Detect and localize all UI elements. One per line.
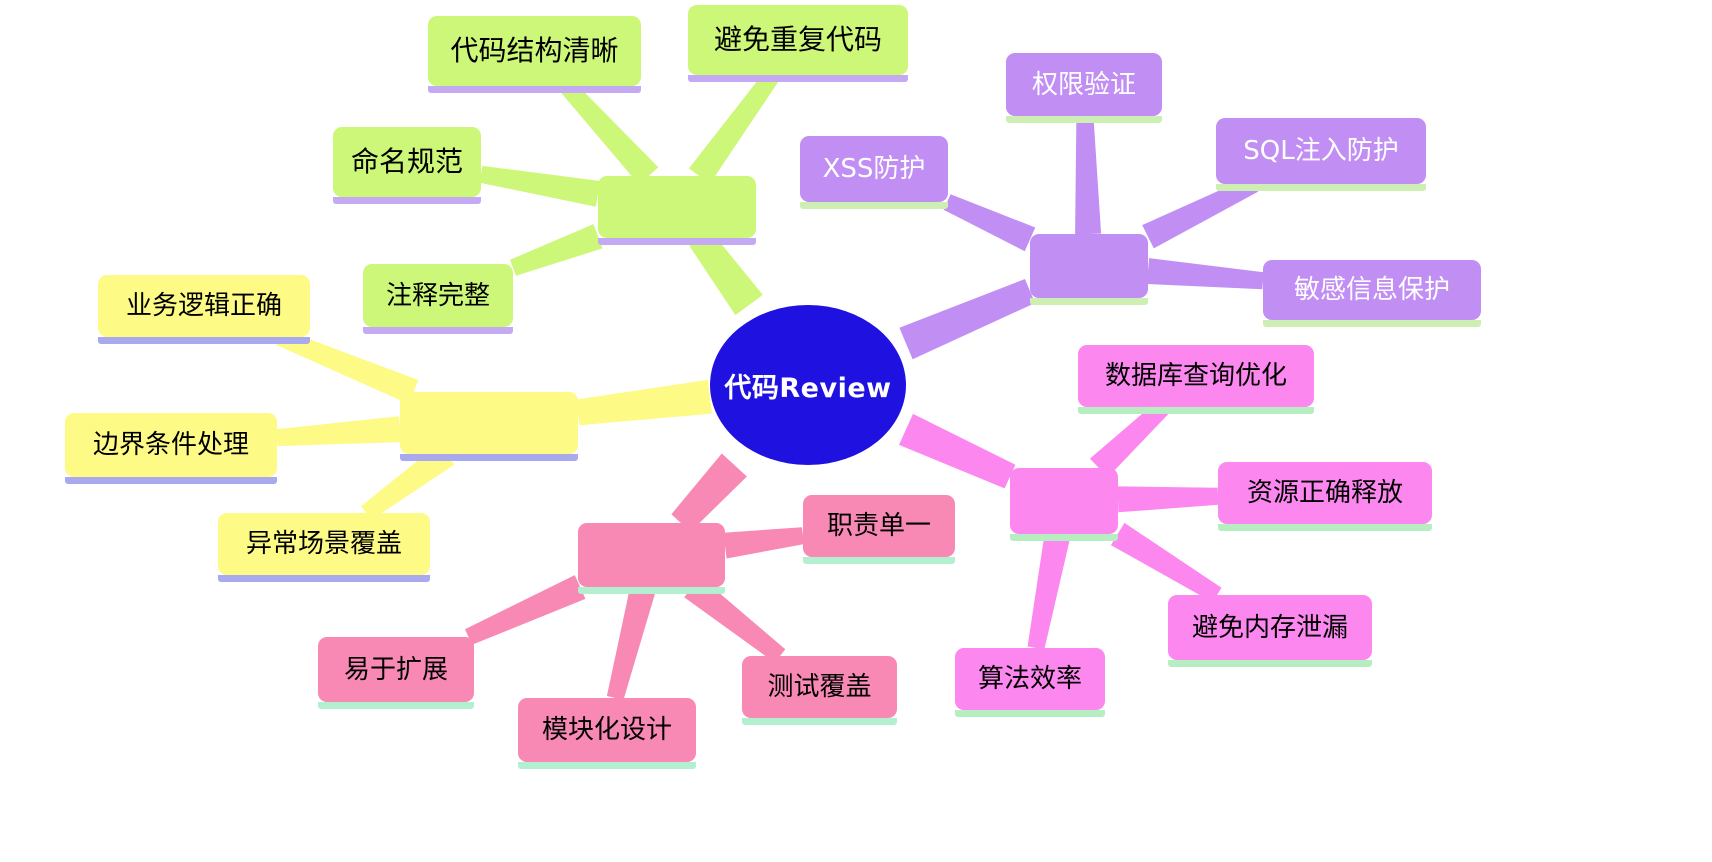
node-label: 数据库查询优化: [1103, 363, 1289, 389]
node-accent-bar: [1216, 184, 1426, 191]
leaf-node-performance-0[interactable]: 数据库查询优化: [1078, 345, 1314, 407]
node-label: 命名规范: [349, 148, 465, 176]
connector: [1028, 532, 1071, 650]
node-label: 算法效率: [976, 666, 1084, 692]
leaf-node-functional-correctness-0[interactable]: 业务逻辑正确: [98, 275, 310, 337]
node-label: 易于扩展: [342, 657, 450, 683]
node-accent-bar: [333, 197, 481, 204]
leaf-node-functional-correctness-1[interactable]: 边界条件处理: [65, 413, 277, 477]
leaf-node-functional-correctness-2[interactable]: 异常场景覆盖: [218, 513, 430, 575]
node-accent-bar: [803, 557, 955, 564]
mindmap-canvas: 代码Review 代码结构清晰避免重复代码命名规范注释完整权限验证XSS防护SQ…: [0, 0, 1712, 862]
node-accent-bar: [742, 718, 897, 725]
node-accent-bar: [318, 702, 474, 709]
branch-node-maintainability[interactable]: [578, 523, 725, 587]
node-label: SQL注入防护: [1241, 138, 1400, 164]
branch-node-functional-correctness[interactable]: [400, 392, 578, 454]
node-label: 职责单一: [825, 513, 933, 539]
branch-node-code-quality[interactable]: [598, 176, 756, 238]
leaf-node-security-1[interactable]: XSS防护: [800, 136, 948, 202]
node-accent-bar: [363, 327, 513, 334]
node-label: 避免内存泄漏: [1190, 615, 1350, 641]
node-label: 测试覆盖: [765, 674, 873, 700]
node-label: 资源正确释放: [1245, 480, 1405, 506]
leaf-node-performance-3[interactable]: 算法效率: [955, 648, 1105, 710]
node-accent-bar: [428, 86, 641, 93]
connector: [1118, 486, 1219, 512]
node-accent-bar: [1010, 534, 1118, 541]
connector: [1111, 523, 1222, 602]
node-accent-bar: [518, 762, 696, 769]
connector: [723, 527, 804, 558]
leaf-node-code-quality-3[interactable]: 注释完整: [363, 264, 513, 327]
node-label: XSS防护: [821, 156, 928, 182]
branch-node-performance[interactable]: [1010, 468, 1118, 534]
node-label: 敏感信息保护: [1292, 277, 1452, 303]
node-accent-bar: [400, 454, 578, 461]
node-label: 权限验证: [1030, 72, 1138, 98]
node-accent-bar: [598, 238, 756, 245]
node-accent-bar: [1263, 320, 1481, 327]
leaf-node-code-quality-0[interactable]: 代码结构清晰: [428, 16, 641, 86]
leaf-node-maintainability-2[interactable]: 模块化设计: [518, 698, 696, 762]
connector: [944, 194, 1036, 251]
leaf-node-code-quality-1[interactable]: 避免重复代码: [688, 5, 908, 75]
connector: [1147, 258, 1264, 289]
center-node[interactable]: 代码Review: [710, 305, 906, 465]
node-label: 注释完整: [384, 283, 492, 309]
node-accent-bar: [1078, 407, 1314, 414]
node-label: 模块化设计: [540, 717, 674, 743]
connector: [1075, 116, 1101, 235]
node-accent-bar: [98, 337, 310, 344]
node-accent-bar: [800, 202, 948, 209]
node-accent-bar: [218, 575, 430, 582]
node-label: 边界条件处理: [91, 432, 251, 458]
leaf-node-maintainability-0[interactable]: 职责单一: [803, 495, 955, 557]
node-accent-bar: [578, 587, 725, 594]
node-label: 业务逻辑正确: [124, 293, 284, 319]
node-accent-bar: [1030, 298, 1148, 305]
connector: [899, 414, 1015, 489]
connector: [276, 416, 401, 446]
leaf-node-performance-2[interactable]: 避免内存泄漏: [1168, 595, 1372, 660]
center-node-label: 代码Review: [724, 366, 891, 405]
connector: [465, 575, 585, 645]
connector: [607, 584, 656, 700]
connector: [899, 279, 1035, 359]
node-label: 异常场景覆盖: [244, 531, 404, 557]
node-accent-bar: [1218, 524, 1432, 531]
connector: [560, 80, 658, 185]
connector: [577, 380, 713, 426]
leaf-node-code-quality-2[interactable]: 命名规范: [333, 127, 481, 197]
connector: [480, 166, 600, 207]
node-label: 避免重复代码: [712, 26, 884, 54]
connector: [671, 454, 747, 532]
leaf-node-security-3[interactable]: 敏感信息保护: [1263, 260, 1481, 320]
node-accent-bar: [1168, 660, 1372, 667]
node-accent-bar: [1006, 116, 1162, 123]
leaf-node-maintainability-3[interactable]: 测试覆盖: [742, 656, 897, 718]
leaf-node-security-2[interactable]: SQL注入防护: [1216, 118, 1426, 184]
leaf-node-maintainability-1[interactable]: 易于扩展: [318, 637, 474, 702]
leaf-node-performance-1[interactable]: 资源正确释放: [1218, 462, 1432, 524]
connector: [510, 224, 603, 276]
node-accent-bar: [688, 75, 908, 82]
node-label: 代码结构清晰: [448, 37, 620, 65]
branch-node-security[interactable]: [1030, 234, 1148, 298]
connector: [689, 70, 780, 184]
node-accent-bar: [65, 477, 277, 484]
node-accent-bar: [955, 710, 1105, 717]
leaf-node-security-0[interactable]: 权限验证: [1006, 53, 1162, 116]
